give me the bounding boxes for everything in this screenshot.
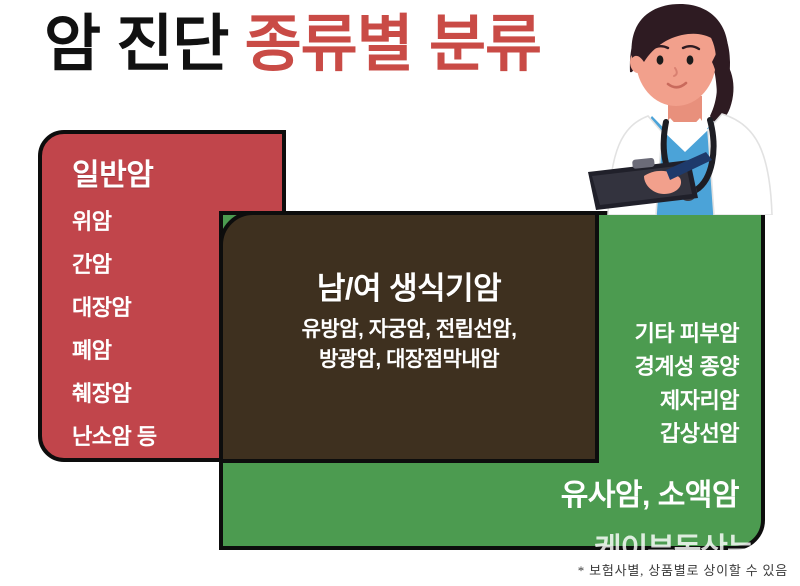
footnote: * 보험사별, 상품별로 상이할 수 있음	[0, 560, 788, 579]
list-item: 갑상선암	[635, 417, 739, 450]
page-title: 암 진단 종류별 분류	[44, 14, 541, 76]
list-item: 대장암	[72, 290, 157, 322]
panel-reproductive-cancer[interactable]: 남/여 생식기암 유방암, 자궁암, 전립선암, 방광암, 대장점막내암	[219, 211, 599, 463]
list-item: 폐암	[72, 333, 157, 365]
title-red-part: 종류별 분류	[245, 10, 541, 79]
female-doctor-illustration	[570, 0, 800, 215]
list-item: 간암	[72, 247, 157, 279]
list-item: 방광암, 대장점막내암	[223, 345, 595, 375]
list-item: 난소암 등	[72, 419, 157, 451]
title-black-part: 암 진단	[44, 10, 228, 79]
panel-similar-heading: 유사암, 소액암	[561, 470, 739, 514]
list-item: 유방암, 자궁암, 전립선암,	[223, 315, 595, 345]
infographic-canvas: 암 진단 종류별 분류	[0, 0, 800, 586]
reproductive-cancer-list: 유방암, 자궁암, 전립선암, 방광암, 대장점막내암	[223, 315, 595, 376]
list-item: 췌장암	[72, 376, 157, 408]
general-cancer-list: 위암 간암 대장암 폐암 췌장암 난소암 등	[72, 204, 157, 451]
list-item: 경계성 종양	[635, 350, 739, 383]
list-item: 위암	[72, 204, 157, 236]
similar-cancer-list: 기타 피부암 경계성 종양 제자리암 갑상선암	[635, 317, 739, 451]
panel-reproductive-heading: 남/여 생식기암	[223, 263, 595, 308]
list-item: 기타 피부암	[635, 317, 739, 350]
list-item: 제자리암	[635, 384, 739, 417]
panel-general-heading: 일반암	[72, 150, 153, 194]
